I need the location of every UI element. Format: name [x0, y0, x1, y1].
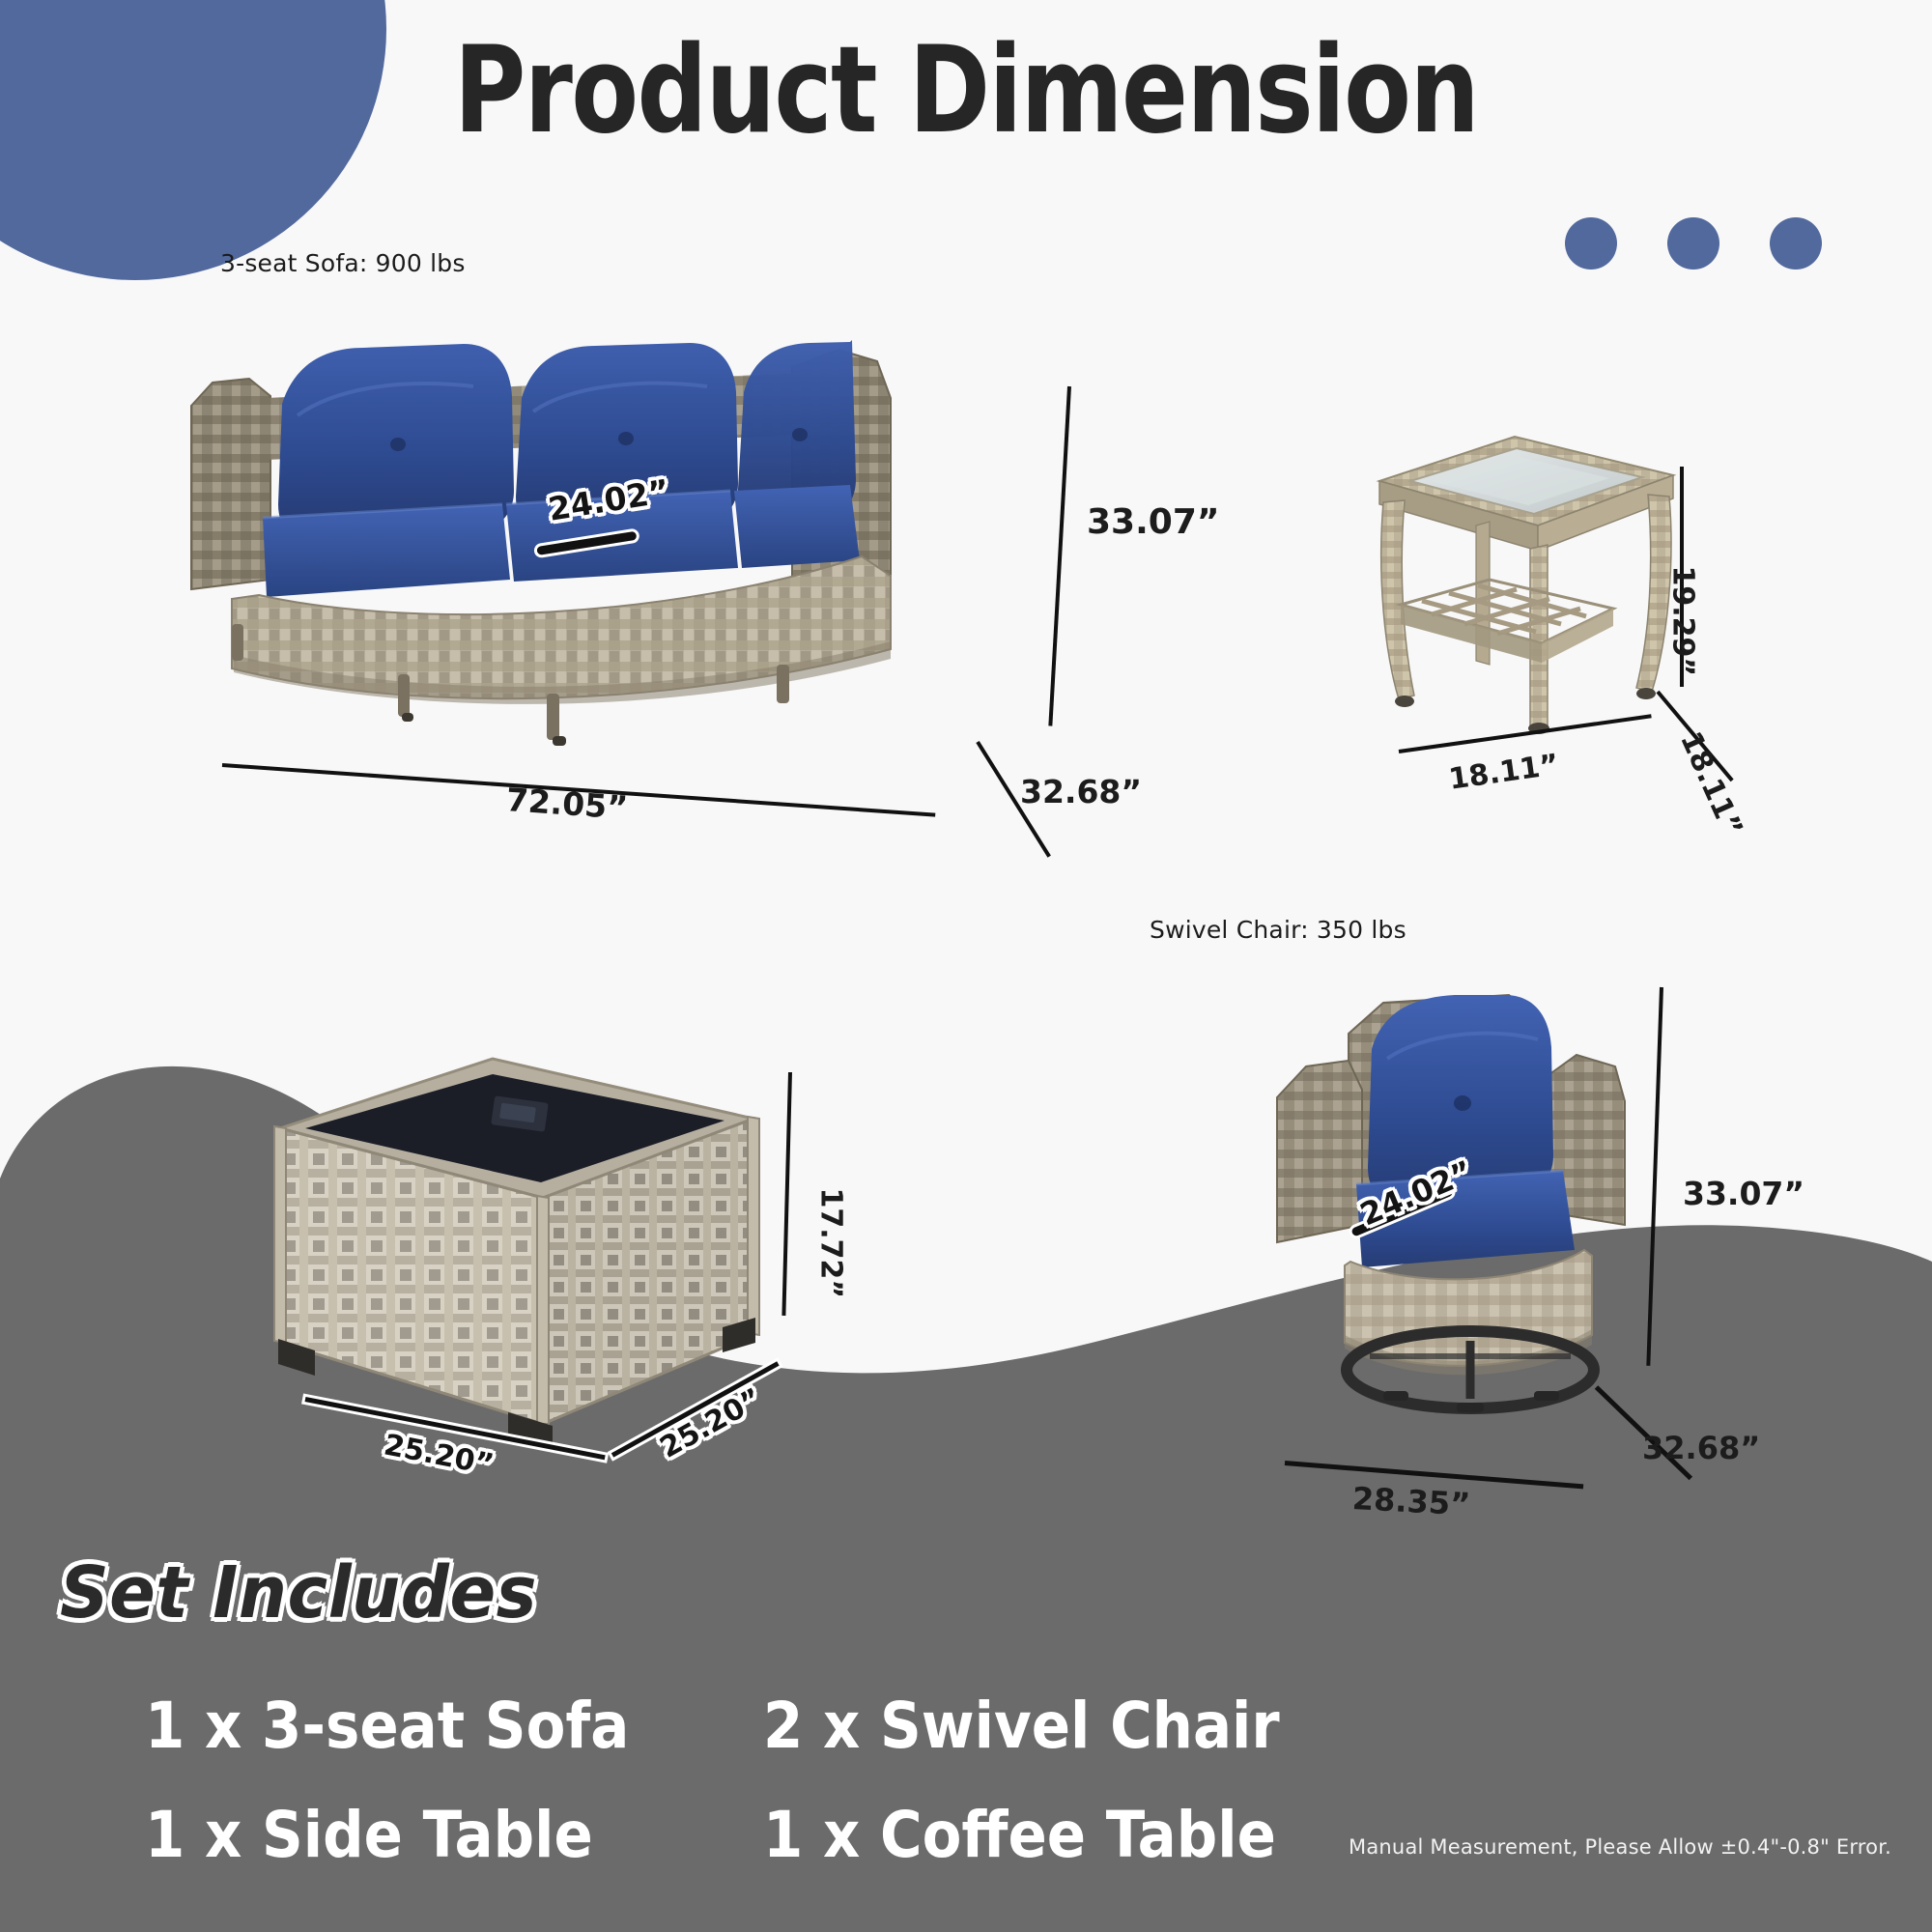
coffee-table-height-label: 17.72”: [814, 1188, 848, 1299]
side-table-illustration: [1372, 425, 1681, 753]
dot-2-icon: [1667, 217, 1719, 270]
list-item: 2 x Swivel Chair: [763, 1689, 1598, 1763]
sofa-illustration: [174, 290, 1063, 773]
list-item: 1 x 3-seat Sofa: [145, 1689, 701, 1763]
page-title: Product Dimension: [174, 21, 1758, 160]
sofa-width-label: 72.05”: [505, 781, 629, 827]
dot-3-icon: [1770, 217, 1822, 270]
coffee-table-illustration: [270, 1053, 773, 1459]
swivel-chair-label: Swivel Chair: 350 lbs: [1150, 916, 1406, 944]
swivel-chair-height-label: 33.07”: [1683, 1175, 1804, 1212]
swivel-chair-depth-label: 32.68”: [1642, 1430, 1760, 1466]
infographic-canvas: Product Dimension 3-seat Sofa: 900 lbs: [0, 0, 1932, 1932]
list-item: 1 x Side Table: [145, 1798, 701, 1872]
set-includes-title: Set Includes: [60, 1551, 537, 1634]
side-table-width-label: 18.11”: [1447, 748, 1561, 797]
dot-1-icon: [1565, 217, 1617, 270]
sofa-height-label: 33.07”: [1087, 502, 1220, 542]
measurement-disclaimer: Manual Measurement, Please Allow ±0.4"-0…: [1349, 1835, 1891, 1859]
side-table-height-label: 19.29”: [1666, 566, 1700, 677]
dot-group: [1565, 217, 1822, 270]
swivel-chair-width-label: 28.35”: [1351, 1480, 1471, 1522]
sofa-label: 3-seat Sofa: 900 lbs: [220, 249, 466, 277]
sofa-depth-label: 32.68”: [1020, 773, 1142, 810]
side-table-depth-label: 18.11”: [1673, 726, 1749, 841]
